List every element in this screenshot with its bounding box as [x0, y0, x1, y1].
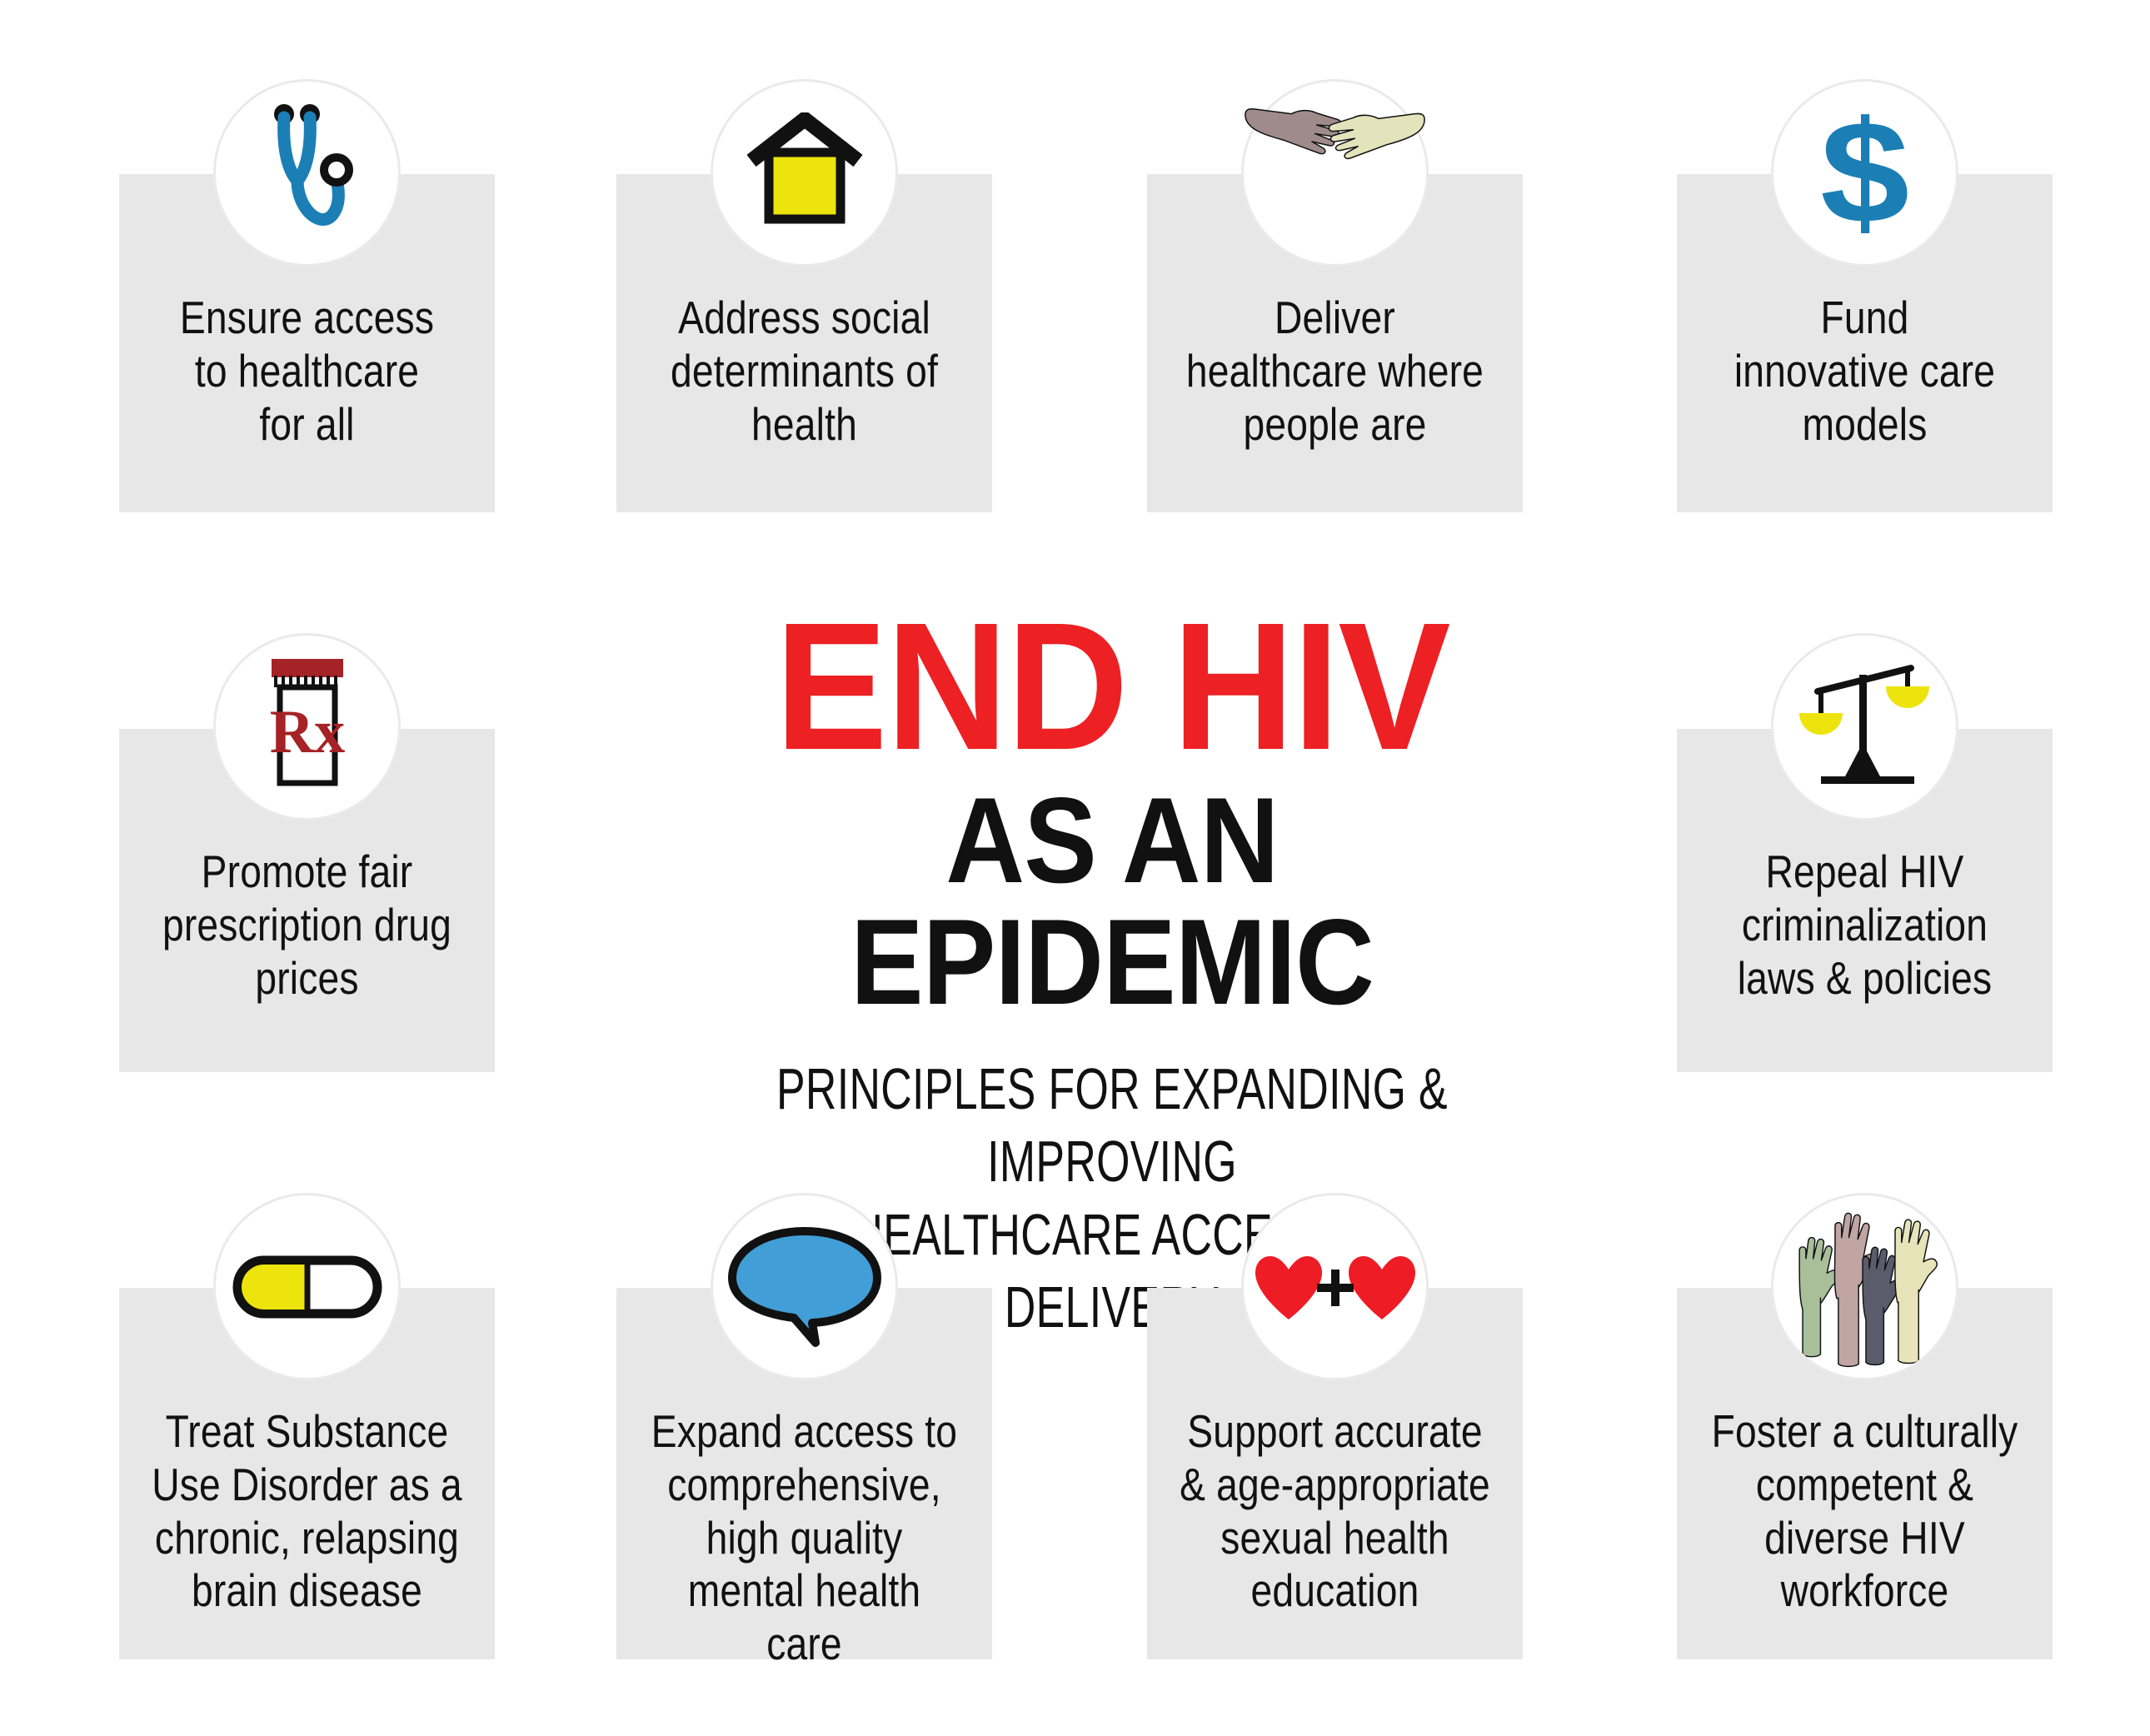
tile-sex-education: Support accurate & age-appropriate sexua… — [1147, 1193, 1523, 1659]
tile-hiv-workforce: Foster a culturally competent & diverse … — [1677, 1193, 2053, 1659]
tile-mental-health: Expand access to comprehensive, high qua… — [616, 1193, 992, 1659]
dollar-sign-icon: $ — [1820, 100, 1909, 246]
tile-label: Foster a culturally competent & diverse … — [1707, 1405, 2023, 1618]
tile-label: Expand access to comprehensive, high qua… — [646, 1405, 962, 1671]
icon-circle — [213, 1193, 401, 1380]
tile-drug-prices: Rx Promote fair prescription drug prices — [119, 633, 495, 1075]
icon-circle — [1771, 1193, 1958, 1380]
scales-of-justice-icon — [1794, 656, 1936, 798]
tile-deliver-healthcare: Deliver healthcare where people are — [1147, 79, 1523, 512]
speech-bubble-icon — [726, 1226, 884, 1347]
tile-label: Promote fair prescription drug prices — [149, 846, 465, 1005]
icon-circle: Rx — [213, 633, 401, 821]
tile-label: Support accurate & age-appropriate sexua… — [1177, 1405, 1493, 1618]
icon-circle — [711, 79, 898, 267]
rx-label: Rx — [269, 698, 344, 766]
house-icon — [738, 112, 871, 233]
tile-substance-use: Treat Substance Use Disorder as a chroni… — [119, 1193, 495, 1659]
icon-circle — [1241, 1193, 1429, 1380]
tile-ensure-access: Ensure access to healthcare for all — [119, 79, 495, 512]
capsule-pill-icon — [232, 1254, 382, 1320]
page-subtitle: AS AN EPIDEMIC — [670, 780, 1554, 1023]
raised-hands-icon — [1773, 1193, 1956, 1380]
reaching-hands-icon — [1244, 92, 1426, 192]
page-title: END HIV — [655, 604, 1569, 771]
tile-repeal-criminalization: Repeal HIV criminalization laws & polici… — [1677, 633, 2053, 1075]
stethoscope-icon — [245, 104, 370, 242]
icon-circle — [711, 1193, 898, 1380]
tile-label: Deliver healthcare where people are — [1177, 292, 1493, 451]
icon-circle — [213, 79, 401, 267]
tile-label: Address social determinants of health — [646, 292, 962, 451]
two-hearts-plus-icon — [1252, 1251, 1419, 1322]
tile-fund-care-models: $ Fund innovative care models — [1677, 79, 2053, 512]
tile-social-determinants: Address social determinants of health — [616, 79, 992, 512]
tile-label: Repeal HIV criminalization laws & polici… — [1707, 846, 2023, 1005]
tile-label: Treat Substance Use Disorder as a chroni… — [149, 1405, 465, 1618]
infographic-poster: Ensure access to healthcare for all Addr… — [0, 0, 2150, 1736]
icon-circle: $ — [1771, 79, 1958, 267]
tile-label: Ensure access to healthcare for all — [149, 292, 465, 451]
tile-label: Fund innovative care models — [1707, 292, 2023, 451]
icon-circle — [1241, 79, 1429, 267]
pill-bottle-rx-icon: Rx — [253, 654, 362, 800]
icon-circle — [1771, 633, 1958, 821]
